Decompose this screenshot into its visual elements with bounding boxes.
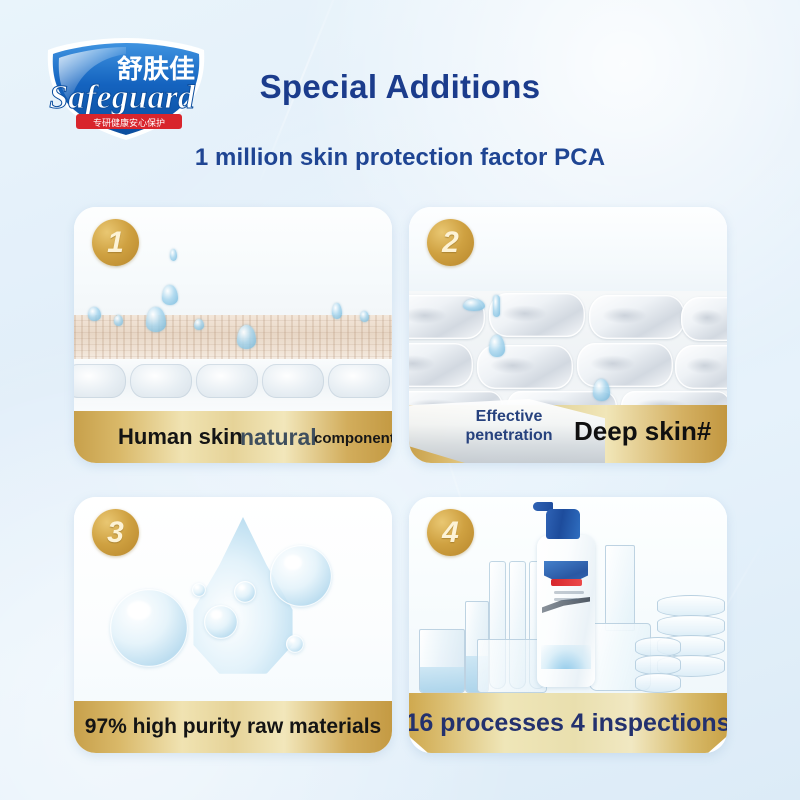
volumetric-flask: [605, 545, 635, 631]
page-title: Special Additions: [0, 68, 800, 106]
skin-cell-blob: [589, 295, 685, 339]
water-droplet: [360, 311, 369, 322]
card-1-caption-main: Human skin: [118, 424, 243, 450]
skin-cell-blob: [681, 297, 727, 341]
safeguard-body-wash-bottle: [537, 535, 595, 687]
skin-cell: [130, 364, 192, 398]
bottle-red-band: [551, 579, 582, 586]
page-root: 舒肤佳 Safeguard 专研健康安心保护 Special Additions…: [0, 0, 800, 800]
feature-card-2[interactable]: 2 Effective penetration Deep skin#: [409, 207, 727, 463]
water-droplet: [489, 335, 505, 357]
card-1-caption-band: Human skin natural component: [74, 411, 392, 463]
card-1-number-badge: 1: [92, 219, 139, 266]
card-3-caption-main: 97% high purity raw materials: [85, 715, 381, 739]
bubble: [286, 635, 304, 653]
petri-dish: [657, 595, 725, 617]
skin-cell-blob: [409, 343, 473, 387]
card-2-number-badge: 2: [427, 219, 474, 266]
bottle-pump-cap: [546, 509, 580, 539]
bubble: [110, 589, 188, 667]
water-droplet: [146, 307, 166, 332]
petri-dish: [635, 637, 681, 657]
card-2-caption-band: Effective penetration Deep skin#: [409, 405, 727, 463]
card-1-caption-small: component: [314, 430, 392, 447]
water-droplet: [88, 307, 101, 321]
card-4-number: 4: [442, 518, 459, 548]
card-2-caption-main: Deep skin#: [574, 416, 711, 447]
water-droplet: [114, 315, 123, 326]
card-3-number: 3: [107, 518, 124, 548]
bottle-label-text-line: [554, 591, 584, 594]
card-4-caption-main: 16 processes 4 inspections: [409, 709, 727, 738]
water-droplet: [593, 379, 610, 401]
water-droplet: [463, 299, 485, 311]
bottle-label-text-line: [554, 598, 578, 601]
petri-dish: [635, 673, 681, 693]
water-droplet: [162, 285, 178, 305]
petri-dish: [635, 655, 681, 675]
card-2-caption-left: Effective penetration: [447, 408, 571, 446]
skin-cell-blob: [577, 343, 673, 387]
skin-cell: [262, 364, 324, 398]
skin-cell-blob: [675, 345, 727, 389]
card-3-number-badge: 3: [92, 509, 139, 556]
bottle-wave-graphic: [541, 645, 591, 669]
card-2-caption-line1: Effective: [476, 408, 543, 425]
bubble: [270, 545, 332, 607]
card-1-number: 1: [107, 228, 124, 258]
water-droplet: [194, 319, 204, 330]
logo-chinese-tagline: 专研健康安心保护: [93, 117, 165, 129]
water-droplet: [332, 303, 342, 319]
petri-dish: [657, 615, 725, 637]
card-4-number-badge: 4: [427, 509, 474, 556]
card-2-number: 2: [442, 228, 459, 258]
water-droplet: [493, 295, 500, 317]
bubble: [234, 581, 256, 603]
water-droplet: [170, 249, 177, 261]
feature-card-1[interactable]: 1 Human skin natural component: [74, 207, 392, 463]
skin-cell: [196, 364, 258, 398]
card-1-caption-mid: natural: [240, 424, 317, 451]
bubble: [192, 583, 206, 597]
card-3-caption-band: 97% high purity raw materials: [74, 701, 392, 753]
beaker: [419, 629, 465, 693]
skin-cell: [74, 364, 126, 398]
bubble: [204, 605, 238, 639]
feature-card-3[interactable]: 3 97% high purity raw materials: [74, 497, 392, 753]
skin-layer-lower: [74, 359, 392, 405]
water-droplet: [237, 325, 256, 349]
skin-cell: [328, 364, 390, 398]
card-2-caption-line2: penetration: [465, 427, 552, 444]
feature-card-4[interactable]: 4 16 processes 4 inspections: [409, 497, 727, 753]
page-subtitle: 1 million skin protection factor PCA: [0, 144, 800, 172]
card-4-caption-band: 16 processes 4 inspections: [409, 693, 727, 753]
skin-cell-blob: [489, 293, 585, 337]
